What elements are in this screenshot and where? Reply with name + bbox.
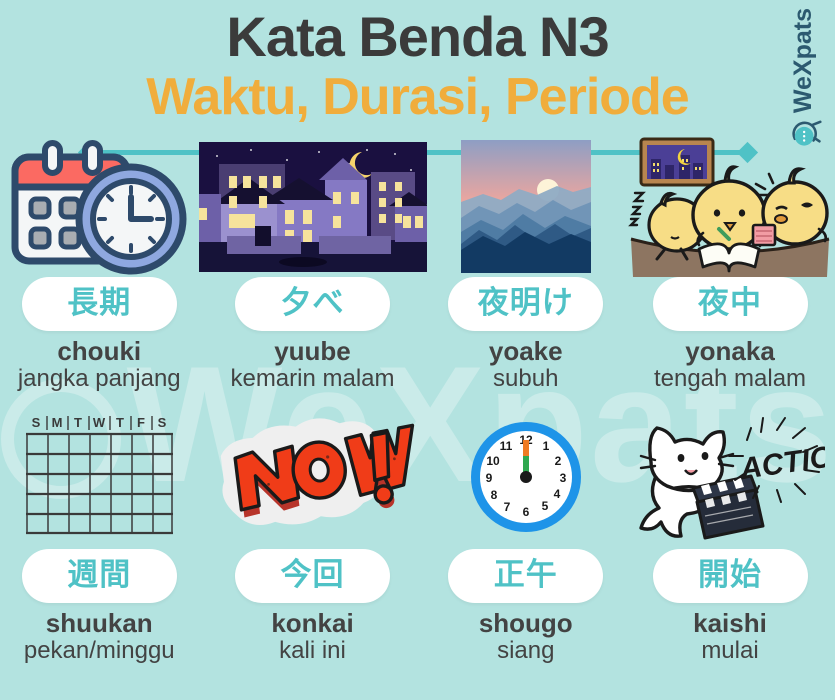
svg-text:S: S [32, 415, 41, 430]
japanese-word-pill: 夜明け [448, 277, 603, 331]
svg-text:1: 1 [542, 439, 549, 453]
cat-clapperboard-action-image: ACTION! [635, 412, 825, 542]
svg-text:5: 5 [541, 499, 548, 513]
japanese-word-pill: 今回 [235, 549, 390, 603]
infographic-page: WeXpats Kata Benda N3 Waktu, Durasi, Per… [0, 0, 835, 700]
now-sticker-icon [210, 417, 415, 537]
svg-text:8: 8 [490, 488, 497, 502]
romaji-text: yoake [489, 338, 563, 365]
svg-text:W: W [93, 415, 106, 430]
svg-text:M: M [52, 415, 63, 430]
japanese-word: 長期 [42, 286, 157, 320]
japanese-word: 夜明け [468, 286, 583, 320]
japanese-word-pill: 長期 [22, 277, 177, 331]
romaji-text: shuukan [46, 610, 153, 637]
japanese-word: 夕べ [255, 286, 370, 320]
brand-name: WeXpats [789, 8, 818, 113]
svg-text:3: 3 [559, 471, 566, 485]
page-title: Kata Benda N3 [0, 8, 835, 67]
calendar-clock-icon [7, 139, 192, 275]
sunrise-mountains-image [461, 140, 591, 273]
meaning-text: kemarin malam [230, 366, 394, 392]
svg-text:T: T [74, 415, 82, 430]
svg-text:11: 11 [499, 439, 512, 453]
chicks-studying-at-night-image [625, 137, 835, 277]
vocab-card-yoake[interactable]: 夜明け yoake subuh [427, 137, 626, 407]
header: Kata Benda N3 Waktu, Durasi, Periode [0, 0, 835, 125]
svg-text:F: F [137, 415, 145, 430]
japanese-word-pill: 週間 [22, 549, 177, 603]
vocab-card-kaishi[interactable]: ACTION! 開始 kaishi mulai [625, 407, 835, 677]
vocab-card-konkai[interactable]: 今回 konkai kali ini [199, 407, 427, 677]
card-art [427, 137, 626, 277]
japanese-word: 夜中 [673, 286, 788, 320]
card-art [625, 137, 835, 277]
vocab-card-yuube[interactable]: 夕べ yuube kemarin malam [199, 137, 427, 407]
vocab-card-yonaka[interactable]: 夜中 yonaka tengah malam [625, 137, 835, 407]
card-art: SMT WTF S [0, 407, 199, 547]
page-subtitle: Waktu, Durasi, Periode [0, 69, 835, 125]
vocab-card-chouki[interactable]: 長期 chouki jangka panjang [0, 137, 199, 407]
svg-text:6: 6 [522, 505, 529, 519]
romaji-text: chouki [57, 338, 141, 365]
card-art: 12 1 2 3 4 5 6 7 8 9 10 11 [427, 407, 626, 547]
svg-text:2: 2 [554, 454, 561, 468]
svg-text:4: 4 [553, 487, 560, 501]
svg-text:10: 10 [486, 454, 500, 468]
clock-noon-icon: 12 1 2 3 4 5 6 7 8 9 10 11 [467, 418, 585, 536]
japanese-word-pill: 開始 [653, 549, 808, 603]
japanese-word-pill: 夕べ [235, 277, 390, 331]
svg-text:T: T [116, 415, 124, 430]
brand-mark-icon [788, 115, 822, 149]
card-art [0, 137, 199, 277]
meaning-text: jangka panjang [18, 366, 181, 392]
meaning-text: pekan/minggu [24, 638, 175, 664]
japanese-word-pill: 正午 [448, 549, 603, 603]
romaji-text: yonaka [685, 338, 775, 365]
japanese-word: 週間 [42, 558, 157, 592]
card-art: ACTION! [625, 407, 835, 547]
meaning-text: tengah malam [654, 366, 806, 392]
action-sticker-text: ACTION! [737, 436, 825, 486]
japanese-word-pill: 夜中 [653, 277, 808, 331]
svg-text:9: 9 [485, 471, 492, 485]
meaning-text: kali ini [279, 638, 346, 664]
vocabulary-grid: 長期 chouki jangka panjang [0, 137, 835, 677]
meaning-text: mulai [701, 638, 758, 664]
card-art [199, 137, 427, 277]
meaning-text: subuh [493, 366, 558, 392]
vocab-card-shougo[interactable]: 12 1 2 3 4 5 6 7 8 9 10 11 [427, 407, 626, 677]
weekly-calendar-grid-icon: SMT WTF S [23, 414, 175, 539]
meaning-text: siang [497, 638, 554, 664]
romaji-text: konkai [271, 610, 353, 637]
svg-text:7: 7 [503, 500, 510, 514]
svg-text:S: S [158, 415, 167, 430]
romaji-text: yuube [274, 338, 351, 365]
japanese-word: 正午 [468, 558, 583, 592]
romaji-text: kaishi [693, 610, 767, 637]
brand-logo: WeXpats [783, 2, 833, 152]
card-art [199, 407, 427, 547]
night-city-image [199, 142, 427, 272]
romaji-text: shougo [479, 610, 573, 637]
japanese-word: 開始 [673, 558, 788, 592]
vocab-card-shuukan[interactable]: SMT WTF S [0, 407, 199, 677]
japanese-word: 今回 [255, 558, 370, 592]
